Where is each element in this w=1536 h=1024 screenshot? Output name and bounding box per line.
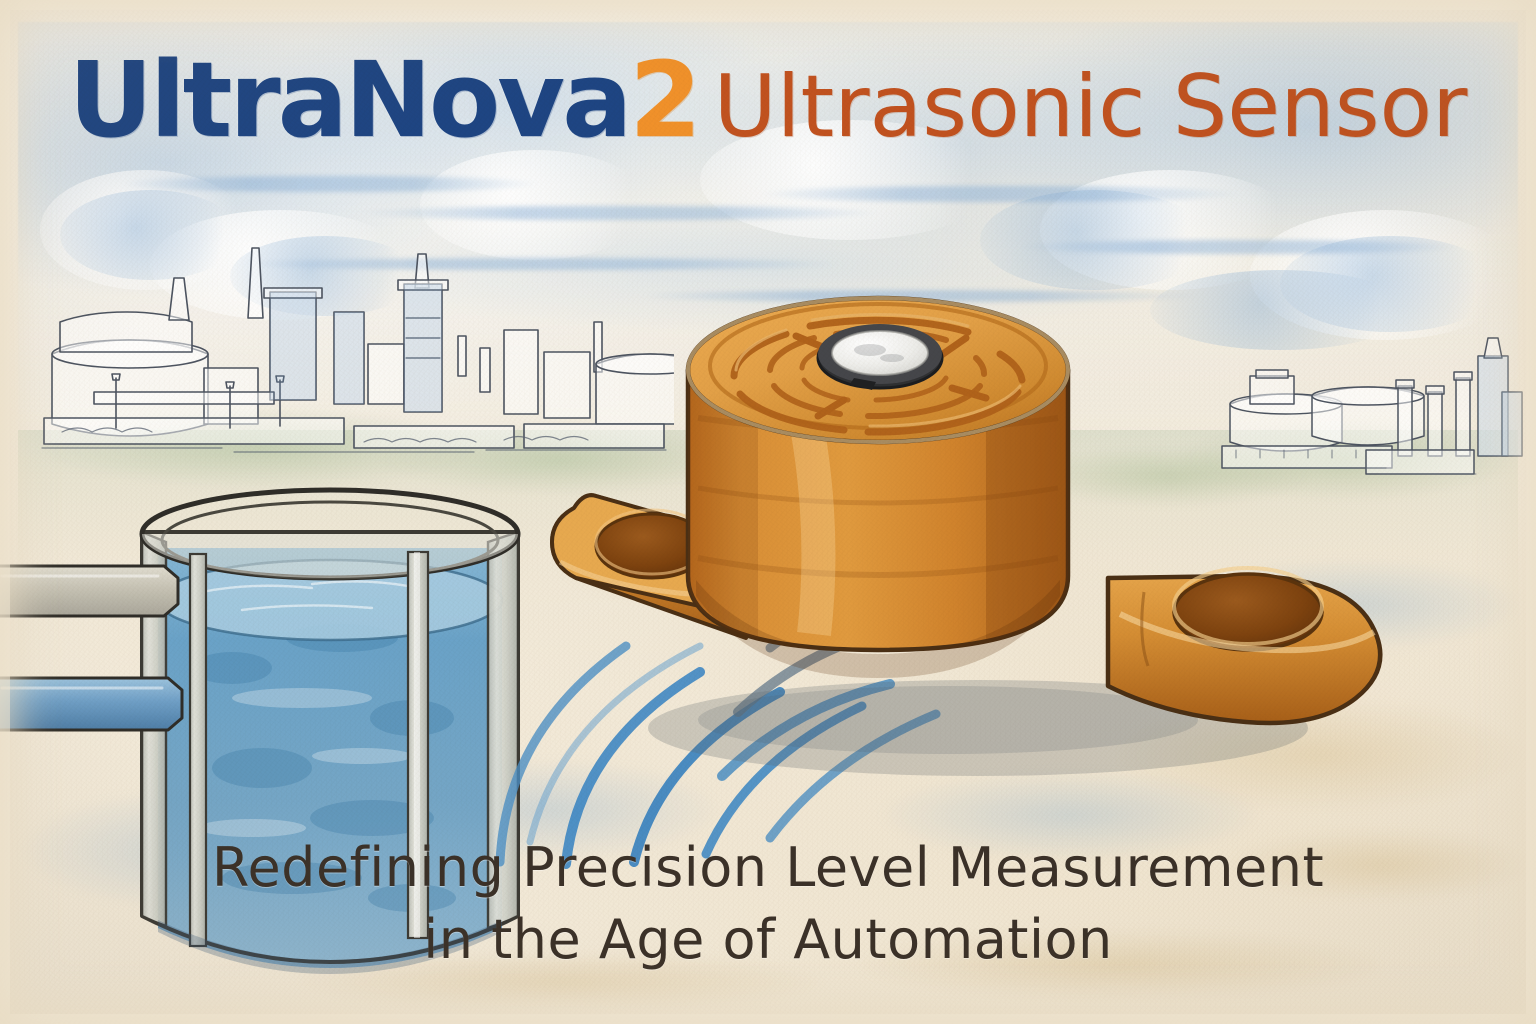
water-tank <box>112 488 532 1008</box>
ultrasonic-sensor <box>548 258 1378 778</box>
poster-canvas: UltraNova2Ultrasonic Sensor Redefining P… <box>0 0 1536 1024</box>
